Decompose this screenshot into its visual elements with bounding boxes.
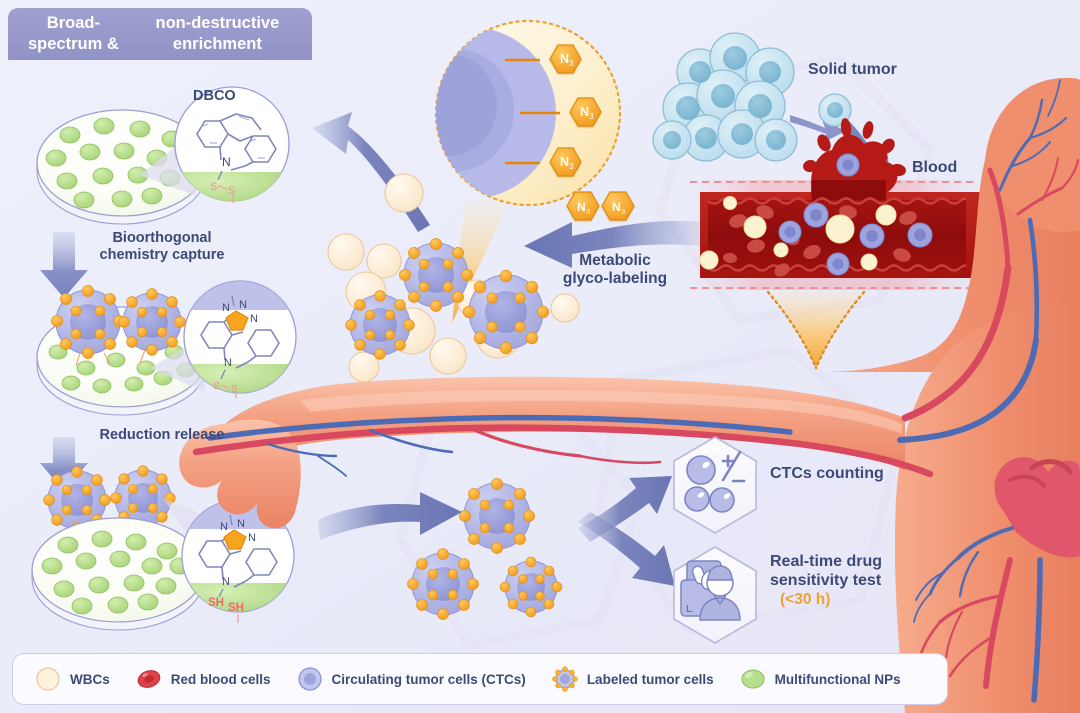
panel-contents: N S S bbox=[32, 87, 296, 630]
svg-text:N: N bbox=[250, 313, 258, 325]
svg-text:3: 3 bbox=[589, 112, 594, 121]
panel-title-line2: non-destructive enrichment bbox=[131, 13, 304, 55]
svg-text:S: S bbox=[210, 181, 217, 193]
svg-text:N: N bbox=[222, 302, 230, 314]
dbco-label: DBCO bbox=[193, 88, 236, 105]
legend-item-labeled-cell: Labeled tumor cells bbox=[552, 666, 714, 692]
labeled-tumor-cell-icon bbox=[552, 666, 578, 692]
drug-line2: sensitivity test bbox=[770, 572, 881, 589]
legend-bar: WBCs Red blood cells Circulating tumor c… bbox=[12, 653, 948, 705]
ctc-icon bbox=[297, 666, 323, 692]
svg-text:N: N bbox=[248, 532, 256, 544]
reduction-release-label: Reduction release bbox=[82, 427, 242, 444]
panel-title: Broad-spectrum & non-destructive enrichm… bbox=[8, 8, 312, 60]
legend-label-wbc: WBCs bbox=[70, 672, 110, 687]
svg-text:3: 3 bbox=[586, 207, 590, 216]
svg-text:3: 3 bbox=[569, 59, 574, 68]
svg-text:N: N bbox=[224, 357, 232, 369]
ctcs-counting-label: CTCs counting bbox=[770, 465, 884, 484]
svg-text:S: S bbox=[213, 381, 220, 392]
blood-label: Blood bbox=[912, 159, 957, 178]
panel-title-line1: Broad-spectrum & bbox=[16, 13, 131, 55]
step1-line2: chemistry capture bbox=[100, 247, 225, 263]
drug-duration-badge: (<30 h) bbox=[770, 591, 910, 609]
rbc-icon bbox=[136, 666, 162, 692]
floating-labeled-cell-3 bbox=[463, 270, 549, 354]
metabolic-line2: glyco-labeling bbox=[563, 270, 667, 287]
svg-text:N: N bbox=[560, 155, 569, 169]
purified-cell-1 bbox=[459, 478, 534, 553]
multifunctional-np-icon bbox=[740, 666, 766, 692]
legend-label-labeled-cell: Labeled tumor cells bbox=[587, 672, 714, 687]
svg-text:SH: SH bbox=[208, 597, 224, 609]
legend-item-rbc: Red blood cells bbox=[136, 666, 271, 692]
figure-canvas: N S S bbox=[0, 0, 1080, 713]
drug-sensitivity-label: Real-time drug sensitivity test (<30 h) bbox=[770, 553, 910, 609]
metabolic-glyco-labeling-label: Metabolic glyco-labeling bbox=[545, 252, 685, 289]
floating-labeled-cell-1 bbox=[399, 238, 472, 311]
step1-line1: Bioorthogonal bbox=[112, 230, 211, 246]
legend-item-ctc: Circulating tumor cells (CTCs) bbox=[297, 666, 526, 692]
labeled-cell-a bbox=[51, 285, 124, 358]
drug-line1: Real-time drug bbox=[770, 553, 882, 570]
svg-text:N: N bbox=[220, 521, 228, 533]
svg-text:N: N bbox=[222, 576, 230, 588]
svg-text:N: N bbox=[612, 200, 621, 214]
svg-text:3: 3 bbox=[569, 162, 574, 171]
svg-text:L: L bbox=[686, 604, 692, 615]
svg-text:N: N bbox=[580, 105, 589, 119]
metabolic-line1: Metabolic bbox=[579, 252, 650, 269]
svg-text:S: S bbox=[231, 384, 238, 395]
solid-tumor-label: Solid tumor bbox=[808, 61, 897, 80]
legend-label-np: Multifunctional NPs bbox=[775, 672, 901, 687]
svg-text:N: N bbox=[560, 52, 569, 66]
svg-text:S: S bbox=[228, 185, 235, 197]
svg-text:3: 3 bbox=[621, 207, 625, 216]
legend-item-np: Multifunctional NPs bbox=[740, 666, 901, 692]
legend-label-ctc: Circulating tumor cells (CTCs) bbox=[332, 672, 526, 687]
legend-item-wbc: WBCs bbox=[35, 666, 110, 692]
bioorthogonal-capture-label: Bioorthogonal chemistry capture bbox=[82, 230, 242, 264]
schematic-artwork: N S S bbox=[0, 0, 1080, 713]
svg-text:N: N bbox=[577, 200, 586, 214]
legend-label-rbc: Red blood cells bbox=[171, 672, 271, 687]
svg-text:N: N bbox=[237, 518, 245, 530]
labeled-cell-b bbox=[119, 289, 186, 356]
svg-text:SH: SH bbox=[228, 602, 244, 614]
svg-text:N: N bbox=[222, 155, 231, 169]
wbc-icon bbox=[35, 666, 61, 692]
svg-text:N: N bbox=[239, 299, 247, 311]
